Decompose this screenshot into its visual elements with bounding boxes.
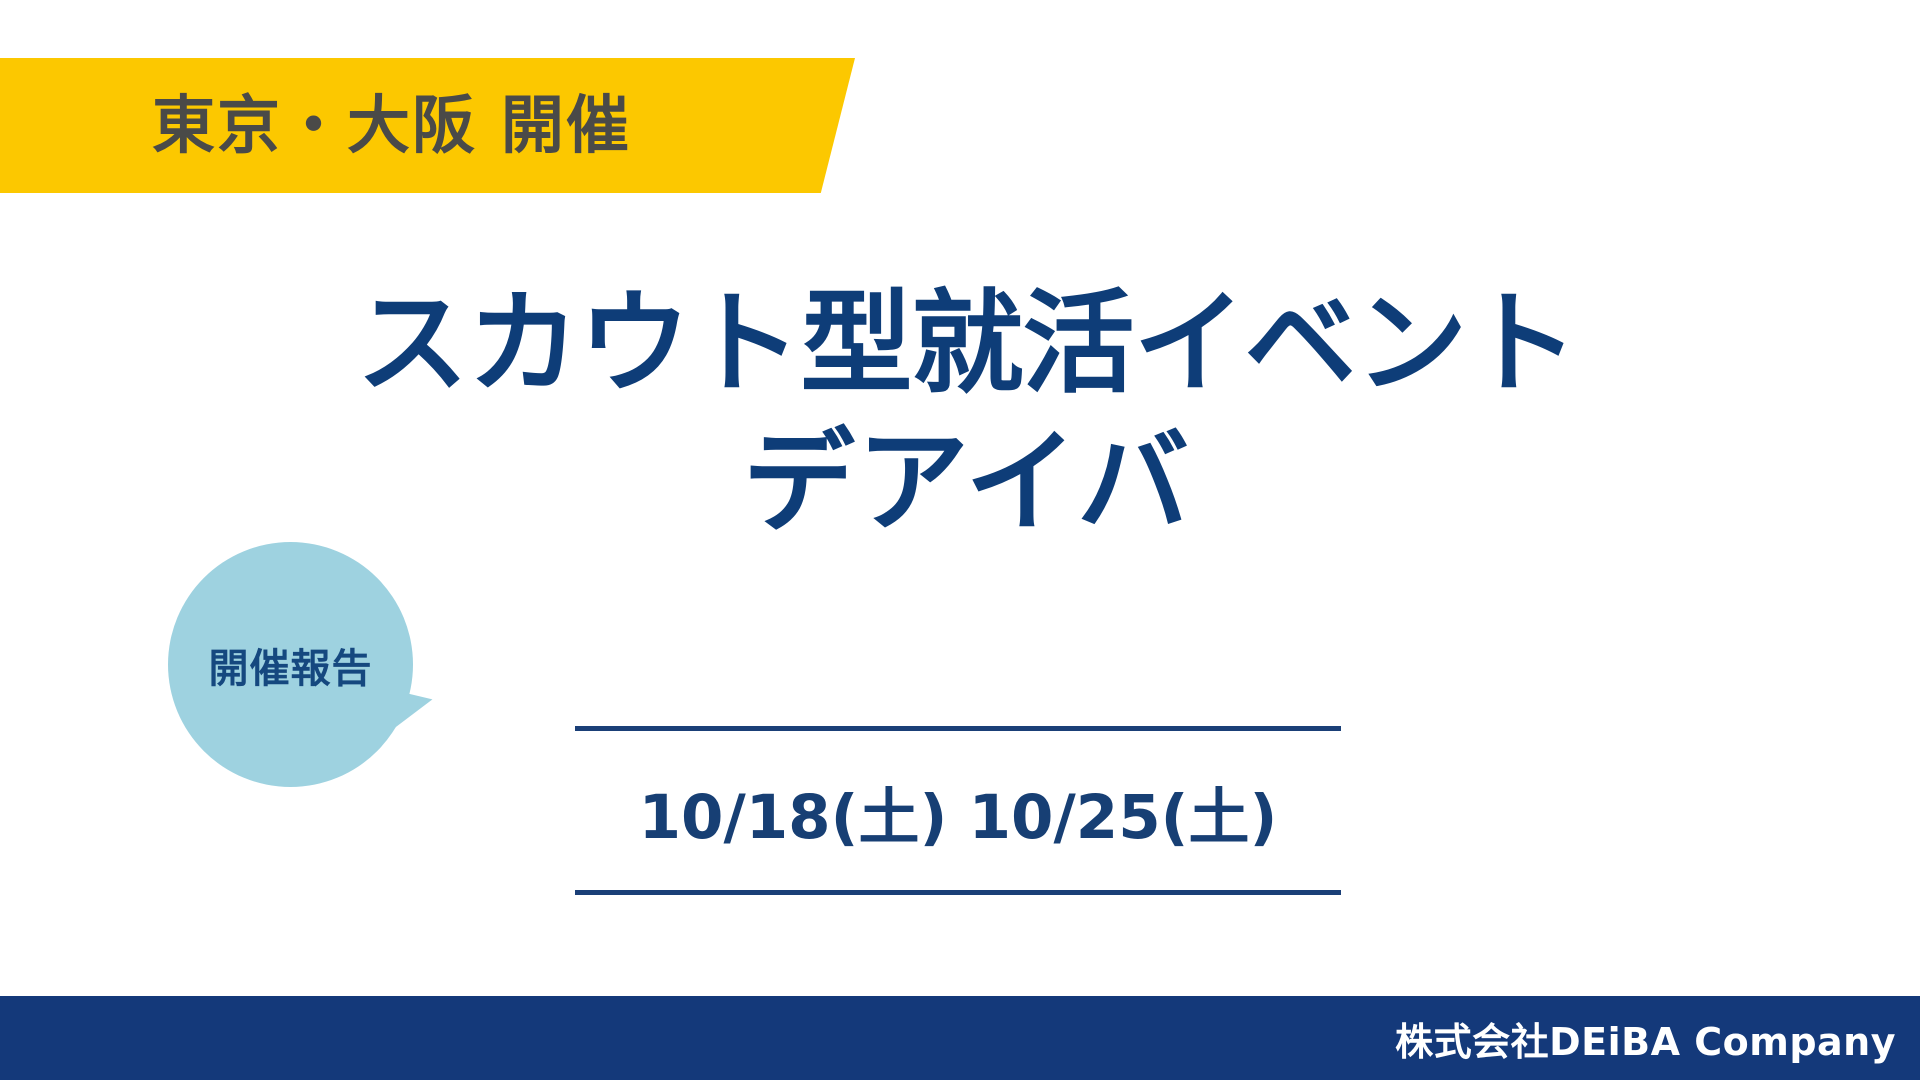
page-title-line-2: デアイバ <box>0 421 1920 546</box>
speech-bubble-icon: 開催報告 <box>168 542 413 787</box>
company-name: 株式会社DEiBA Company <box>1395 1011 1896 1066</box>
event-announcement-slide: 東京・大阪 開催 スカウト型就活イベント デアイバ 開催報告 10/18(土) … <box>0 0 1920 1080</box>
event-dates-text: 10/18(土) 10/25(土) <box>575 731 1341 890</box>
report-badge-label: 開催報告 <box>209 636 373 694</box>
report-badge: 開催報告 <box>168 542 443 817</box>
location-ribbon-label: 東京・大阪 開催 <box>152 94 631 157</box>
location-ribbon-banner: 東京・大阪 開催 <box>0 58 855 193</box>
divider-bottom <box>575 890 1341 895</box>
page-title: スカウト型就活イベント デアイバ <box>0 282 1920 547</box>
event-dates-block: 10/18(土) 10/25(土) <box>575 726 1341 895</box>
footer-bar: 株式会社DEiBA Company <box>0 996 1920 1080</box>
page-title-line-1: スカウト型就活イベント <box>0 282 1920 407</box>
